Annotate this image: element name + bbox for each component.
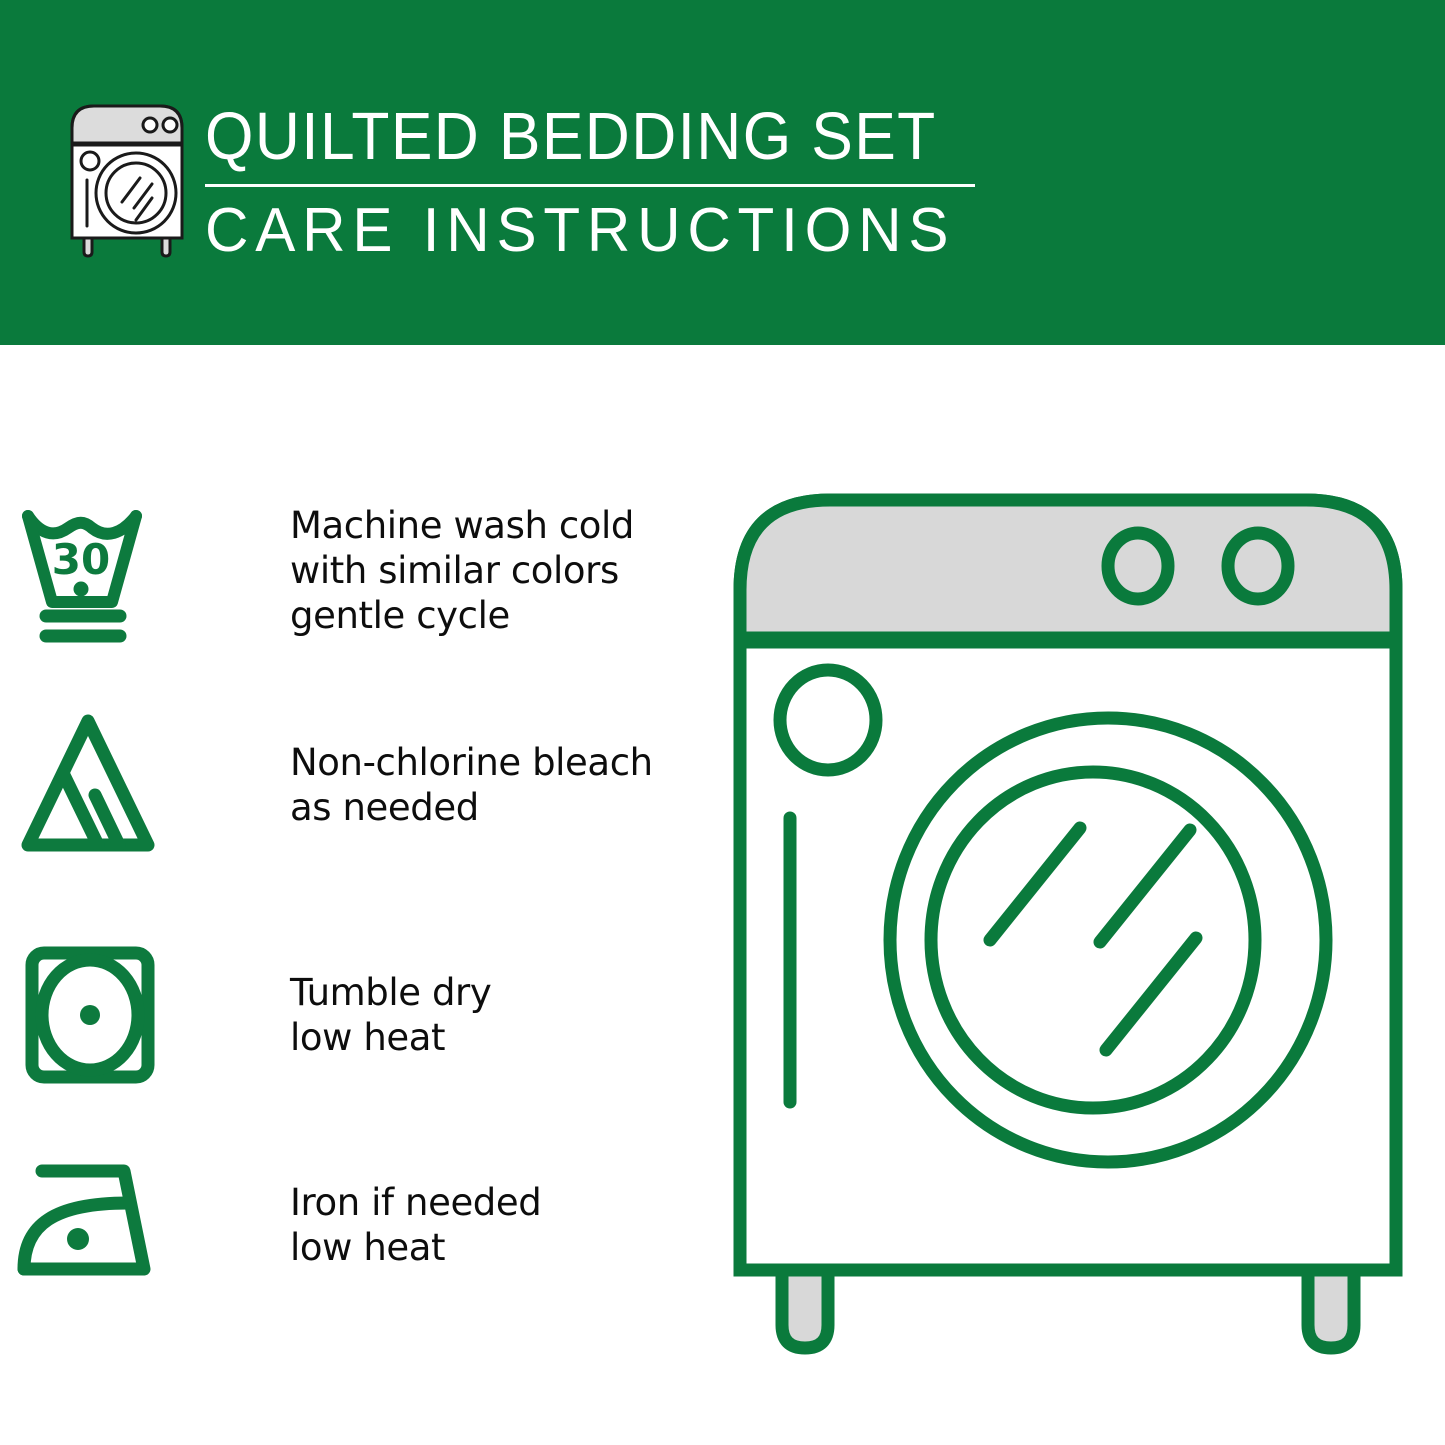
care-text-line: Iron if needed [290, 1180, 541, 1225]
control-panel [740, 500, 1396, 638]
leg-left [782, 1270, 828, 1348]
knob-left [1108, 533, 1168, 599]
leg-right [1308, 1270, 1354, 1348]
care-text-line: Non-chlorine bleach [290, 740, 653, 785]
care-row-tumble-dry: Tumble dry low heat [0, 935, 700, 1095]
care-text-line: low heat [290, 1015, 491, 1060]
care-instruction-list: 30 Machine wash cold with similar colors… [0, 345, 700, 1445]
care-text-bleach: Non-chlorine bleach as needed [290, 740, 653, 830]
detergent-dispenser [780, 670, 876, 770]
machine-wash-tub-icon: 30 [0, 490, 180, 650]
knob-right [1228, 533, 1288, 599]
header-divider [205, 184, 975, 187]
door-inner-ring [931, 772, 1255, 1108]
care-row-iron: Iron if needed low heat [0, 1145, 700, 1305]
wash-temperature-label: 30 [52, 535, 110, 584]
care-text-line: Machine wash cold [290, 503, 634, 548]
tumble-dry-low-icon [0, 935, 180, 1095]
page-title: QUILTED BEDDING SET [205, 100, 940, 174]
care-text-line: gentle cycle [290, 593, 634, 638]
care-text-iron: Iron if needed low heat [290, 1180, 541, 1270]
care-text-machine-wash: Machine wash cold with similar colors ge… [290, 503, 634, 638]
care-row-bleach: Non-chlorine bleach as needed [0, 705, 700, 865]
care-text-line: low heat [290, 1225, 541, 1270]
header-band: QUILTED BEDDING SET CARE INSTRUCTIONS [0, 0, 1445, 345]
header-text-block: QUILTED BEDDING SET CARE INSTRUCTIONS [205, 100, 995, 266]
washing-machine-icon [62, 98, 192, 258]
care-text-line: Tumble dry [290, 970, 491, 1015]
care-instructions-infographic: QUILTED BEDDING SET CARE INSTRUCTIONS [0, 0, 1445, 1445]
care-row-machine-wash: 30 Machine wash cold with similar colors… [0, 485, 700, 655]
non-chlorine-bleach-triangle-icon [0, 705, 180, 865]
care-text-line: as needed [290, 785, 653, 830]
page-subtitle: CARE INSTRUCTIONS [205, 196, 971, 266]
care-text-tumble-dry: Tumble dry low heat [290, 970, 491, 1060]
iron-low-heat-icon [0, 1145, 180, 1305]
front-load-washing-machine-illustration [718, 470, 1418, 1370]
care-text-line: with similar colors [290, 548, 634, 593]
